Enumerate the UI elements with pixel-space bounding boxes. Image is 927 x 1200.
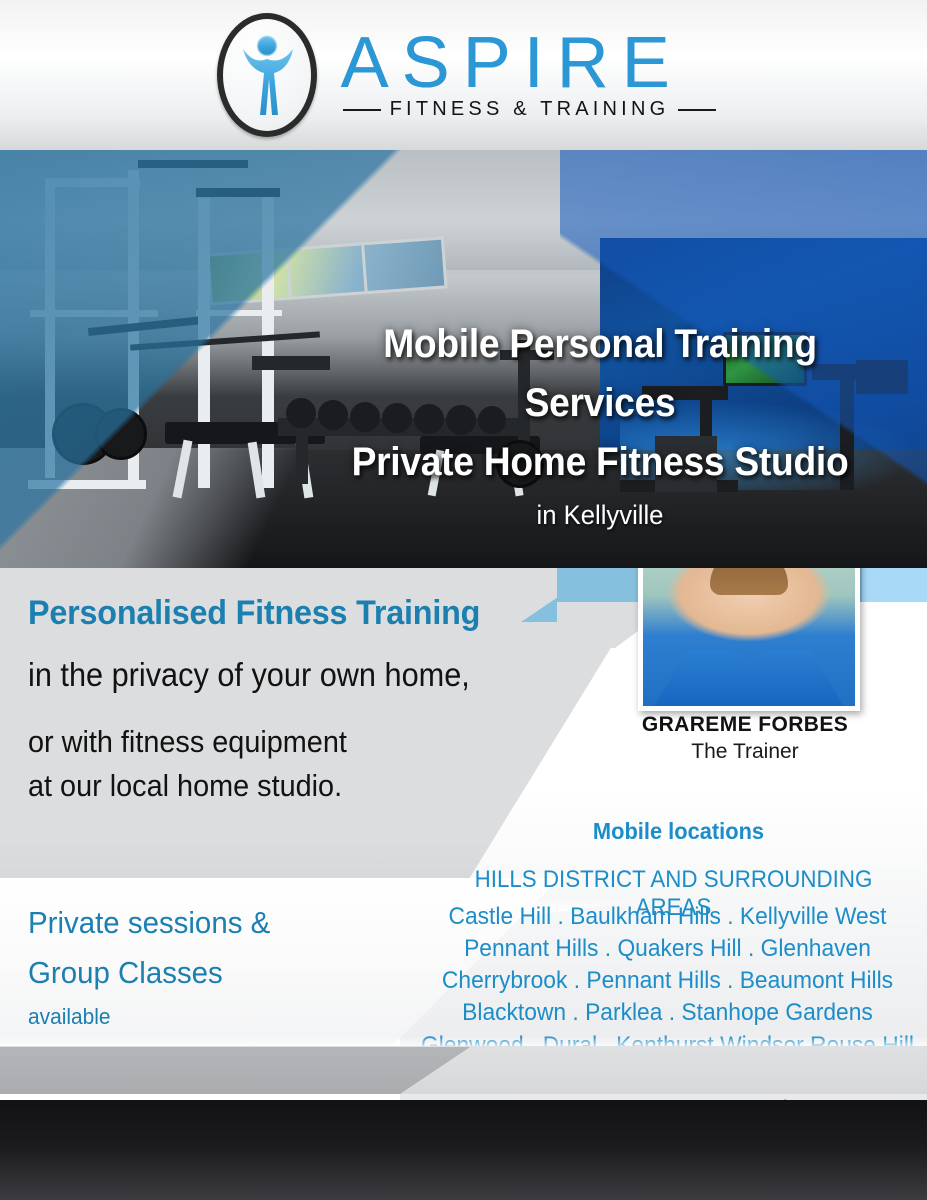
trainer-role: The Trainer [600,740,890,764]
aspire-figure-ring-logo-icon [211,18,323,133]
sessions-line1: Private sessions & [28,905,270,940]
offer-line3: at our local home studio. [28,768,342,803]
logo-person-icon [236,33,298,117]
offer-line1: in the privacy of your own home, [28,656,470,694]
main-content: Personalised Fitness Training in the pri… [0,568,927,1108]
brand-tagline: FITNESS & TRAINING [390,98,670,121]
logo-lockup: ASPIRE FITNESS & TRAINING [0,0,927,150]
brand-tagline-row: FITNESS & TRAINING [337,98,717,121]
offer-heading: Personalised Fitness Training [28,594,480,633]
trainer-shirt [654,650,844,706]
footer-contact-bar: 0433 007 506 For more detailed informati… [0,1100,927,1200]
flyer-page: ASPIRE FITNESS & TRAINING [0,0,927,1200]
trainer-name: GRAREME FORBES [600,713,890,737]
tagline-dash-right-icon [678,109,716,111]
offer-line2-3: or with fitness equipment at our local h… [28,720,347,808]
tagline-dash-left-icon [343,109,381,111]
logo-wordmark: ASPIRE FITNESS & TRAINING [337,29,717,121]
header-bar: ASPIRE FITNESS & TRAINING [0,0,927,150]
sessions-line2: Group Classes [28,955,223,990]
band-blue-right [862,568,927,602]
photo-blue-tint-right [560,150,927,575]
trainer-hair [710,568,788,595]
photo-blue-tint-left [0,150,430,575]
hero-gym-photo: Mobile Personal Training Services Privat… [0,150,927,575]
offer-line2: or with fitness equipment [28,724,347,759]
trainer-portrait-photo [643,568,855,706]
sessions-block: Private sessions & Group Classes availab… [28,898,270,1036]
locations-title: Mobile locations [442,818,914,845]
brand-name: ASPIRE [337,29,717,97]
sessions-available: available [28,998,270,1035]
bottom-grey-dark [0,1047,470,1094]
trainer-photo-card [638,568,860,711]
